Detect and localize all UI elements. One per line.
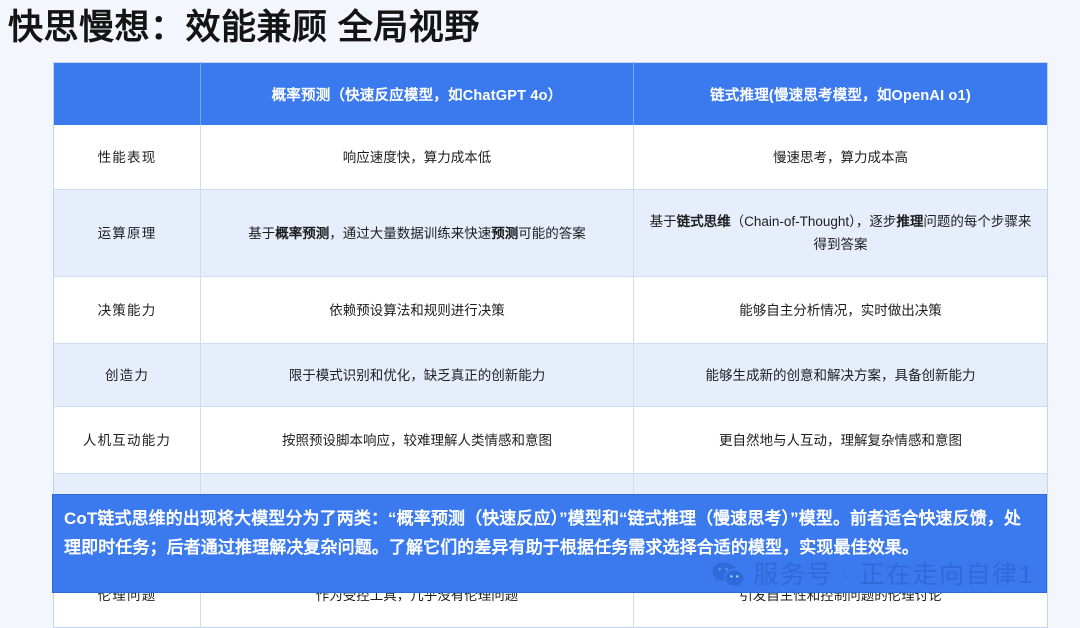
table-row: 运算原理 基于概率预测，通过大量数据训练来快速预测可能的答案 基于链式思维（Ch… bbox=[54, 190, 1048, 277]
table-header-fast: 概率预测（快速反应模型，如ChatGPT 4o） bbox=[201, 63, 634, 126]
summary-callout: CoT链式思维的出现将大模型分为了两类：“概率预测（快速反应）”模型和“链式推理… bbox=[52, 494, 1047, 593]
row-label: 运算原理 bbox=[54, 190, 201, 277]
table-header-row: 概率预测（快速反应模型，如ChatGPT 4o） 链式推理(慢速思考模型，如Op… bbox=[54, 63, 1048, 126]
row-label: 人机互动能力 bbox=[54, 407, 201, 474]
row-fast-cell: 基于概率预测，通过大量数据训练来快速预测可能的答案 bbox=[201, 190, 634, 277]
table-row: 性能表现 响应速度快，算力成本低 慢速思考，算力成本高 bbox=[54, 125, 1048, 190]
row-fast-cell: 依赖预设算法和规则进行决策 bbox=[201, 277, 634, 344]
table-header-slow: 链式推理(慢速思考模型，如OpenAI o1) bbox=[634, 63, 1048, 126]
watermark: 服务号 · 正在走向自律1 bbox=[712, 561, 1034, 589]
table-row: 创造力 限于模式识别和优化，缺乏真正的创新能力 能够生成新的创意和解决方案，具备… bbox=[54, 344, 1048, 407]
table-row: 决策能力 依赖预设算法和规则进行决策 能够自主分析情况，实时做出决策 bbox=[54, 277, 1048, 344]
watermark-text: 服务号 · 正在走向自律1 bbox=[753, 561, 1034, 589]
wechat-icon bbox=[712, 562, 744, 588]
table-header-blank bbox=[54, 63, 201, 126]
summary-text: CoT链式思维的出现将大模型分为了两类：“概率预测（快速反应）”模型和“链式推理… bbox=[64, 505, 1036, 562]
row-slow-cell: 更自然地与人互动，理解复杂情感和意图 bbox=[634, 407, 1048, 474]
table-header: 概率预测（快速反应模型，如ChatGPT 4o） 链式推理(慢速思考模型，如Op… bbox=[54, 63, 1048, 126]
table-row: 人机互动能力 按照预设脚本响应，较难理解人类情感和意图 更自然地与人互动，理解复… bbox=[54, 407, 1048, 474]
row-fast-cell: 响应速度快，算力成本低 bbox=[201, 125, 634, 190]
row-slow-cell: 能够自主分析情况，实时做出决策 bbox=[634, 277, 1048, 344]
row-label: 决策能力 bbox=[54, 277, 201, 344]
rich-text-fast-principle: 基于概率预测，通过大量数据训练来快速预测可能的答案 bbox=[248, 226, 586, 241]
row-fast-cell: 限于模式识别和优化，缺乏真正的创新能力 bbox=[201, 344, 634, 407]
row-label: 性能表现 bbox=[54, 125, 201, 190]
row-fast-cell: 按照预设脚本响应，较难理解人类情感和意图 bbox=[201, 407, 634, 474]
rich-text-slow-principle: 基于链式思维（Chain-of-Thought），逐步推理问题的每个步骤来得到答… bbox=[650, 214, 1032, 252]
slide-root: 快思慢想：效能兼顾 全局视野 概率预测（快速反应模型，如ChatGPT 4o） … bbox=[0, 0, 1080, 611]
row-slow-cell: 慢速思考，算力成本高 bbox=[634, 125, 1048, 190]
row-slow-cell: 能够生成新的创意和解决方案，具备创新能力 bbox=[634, 344, 1048, 407]
row-slow-cell: 基于链式思维（Chain-of-Thought），逐步推理问题的每个步骤来得到答… bbox=[634, 190, 1048, 277]
page-title: 快思慢想：效能兼顾 全局视野 bbox=[8, 4, 480, 52]
row-label: 创造力 bbox=[54, 344, 201, 407]
